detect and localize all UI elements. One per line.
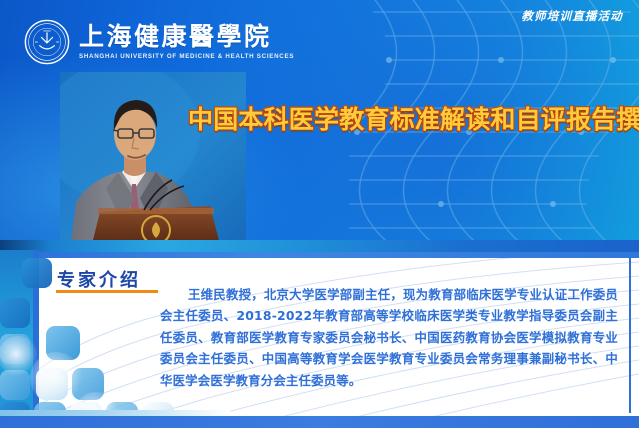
university-name-en: SHANGHAI UNIVERSITY OF MEDICINE & HEALTH… [79, 54, 294, 60]
university-seal-icon [24, 19, 70, 65]
event-tag: 教师培训直播活动 [521, 8, 623, 24]
expert-bio-text: 王维民教授，北京大学医学部副主任，现为教育部临床医学专业认证工作委员会主任委员、… [160, 284, 618, 391]
hero-banner: 上海健康醫學院 SHANGHAI UNIVERSITY OF MEDICINE … [0, 0, 639, 252]
university-logo: 上海健康醫學院 SHANGHAI UNIVERSITY OF MEDICINE … [24, 19, 294, 65]
slide-title: 中国本科医学教育标准解读和自评报告撰写 [188, 100, 639, 136]
presentation-slide: 上海健康醫學院 SHANGHAI UNIVERSITY OF MEDICINE … [0, 0, 639, 428]
university-name-cn: 上海健康醫學院 [79, 24, 294, 49]
panel-right-border [629, 258, 631, 413]
square-mosaic-decoration [0, 250, 200, 428]
bottom-bar [0, 416, 639, 428]
speaker-photo [60, 72, 246, 252]
